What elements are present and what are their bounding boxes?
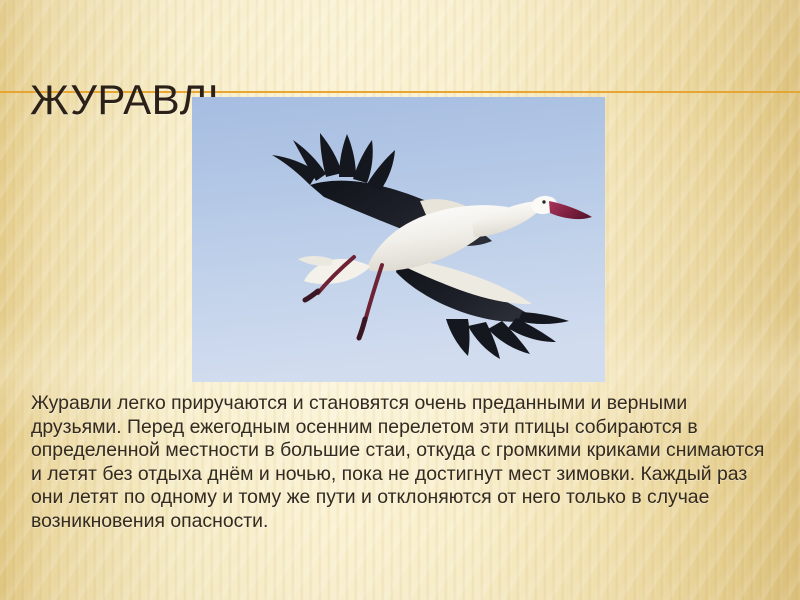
crane-photo (192, 97, 605, 382)
slide-body-text: Журавли легко приручаются и становятся о… (31, 392, 773, 534)
slide: ЖУРАВЛЬ (0, 0, 800, 600)
crane-illustration (192, 97, 605, 382)
body-paragraph: Журавли легко приручаются и становятся о… (31, 392, 773, 534)
